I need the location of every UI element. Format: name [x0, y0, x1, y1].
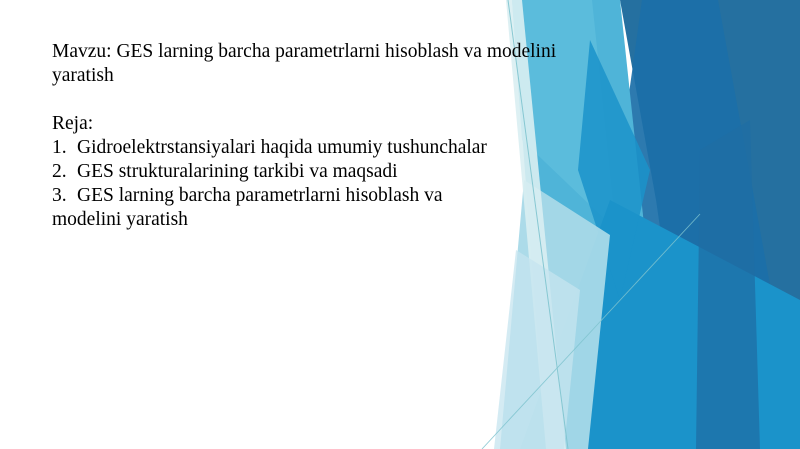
- list-item-label: GES larning barcha parametrlarni hisobla…: [77, 184, 443, 208]
- plan-heading: Reja:: [52, 112, 592, 136]
- title-plan-spacer: [52, 88, 592, 112]
- list-item-number: 1.: [52, 136, 77, 160]
- list-item-continuation-text: modelini yaratish: [52, 209, 188, 230]
- slide-title-text: Mavzu: GES larning barcha parametrlarni …: [52, 40, 572, 88]
- slide-canvas: Mavzu: GES larning barcha parametrlarni …: [0, 0, 800, 449]
- list-item: 2. GES strukturalarining tarkibi va maqs…: [52, 160, 592, 184]
- diagonal-hairline: [482, 214, 700, 449]
- list-item-number: 2.: [52, 160, 77, 184]
- list-item-label: Gidroelektrstansiyalari haqida umumiy tu…: [77, 136, 487, 160]
- list-item-continuation: modelini yaratish: [52, 208, 592, 232]
- slide-text-block: Mavzu: GES larning barcha parametrlarni …: [52, 40, 592, 232]
- slide-title: Mavzu: GES larning barcha parametrlarni …: [52, 40, 592, 88]
- list-item-number: 3.: [52, 184, 77, 208]
- list-item-label: GES strukturalarining tarkibi va maqsadi: [77, 160, 398, 184]
- plan-heading-text: Reja:: [52, 113, 93, 134]
- list-item: 1. Gidroelektrstansiyalari haqida umumiy…: [52, 136, 592, 160]
- list-item: 3. GES larning barcha parametrlarni hiso…: [52, 184, 592, 208]
